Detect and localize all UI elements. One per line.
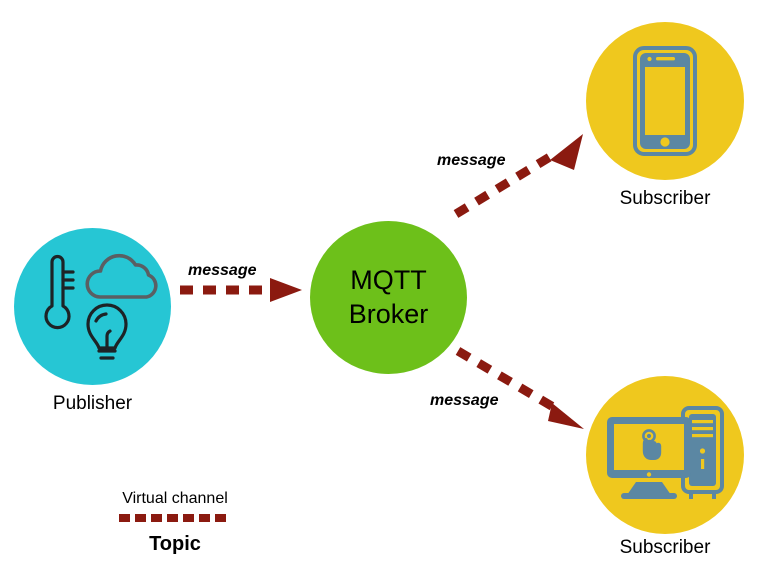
cloud-icon bbox=[87, 255, 156, 296]
publisher-node bbox=[14, 228, 171, 385]
subscriber-bottom-node bbox=[586, 376, 744, 534]
desktop-computer-icon bbox=[603, 403, 727, 507]
smartphone-icon bbox=[632, 45, 698, 157]
arrow-broker-to-subscriber-top bbox=[450, 130, 590, 220]
lightbulb-icon bbox=[88, 305, 126, 358]
legend-topic-label: Topic bbox=[75, 531, 275, 557]
legend: Virtual channel Topic bbox=[75, 489, 275, 557]
publisher-label: Publisher bbox=[14, 393, 171, 415]
mqtt-broker-label: MQTT Broker bbox=[349, 264, 429, 332]
legend-title: Virtual channel bbox=[75, 489, 275, 508]
legend-dashed-line-icon bbox=[116, 513, 234, 523]
mqtt-broker-node: MQTT Broker bbox=[310, 221, 467, 374]
subscriber-top-label: Subscriber bbox=[586, 188, 744, 210]
thermometer-icon bbox=[46, 256, 73, 327]
mqtt-architecture-diagram: Publisher MQTT Broker Subscriber bbox=[0, 0, 757, 578]
publisher-icons-group bbox=[28, 248, 158, 366]
subscriber-bottom-label: Subscriber bbox=[586, 537, 744, 559]
arrow-publisher-to-broker bbox=[180, 275, 305, 305]
arrow-broker-to-subscriber-bottom bbox=[450, 345, 590, 435]
subscriber-top-node bbox=[586, 22, 744, 180]
